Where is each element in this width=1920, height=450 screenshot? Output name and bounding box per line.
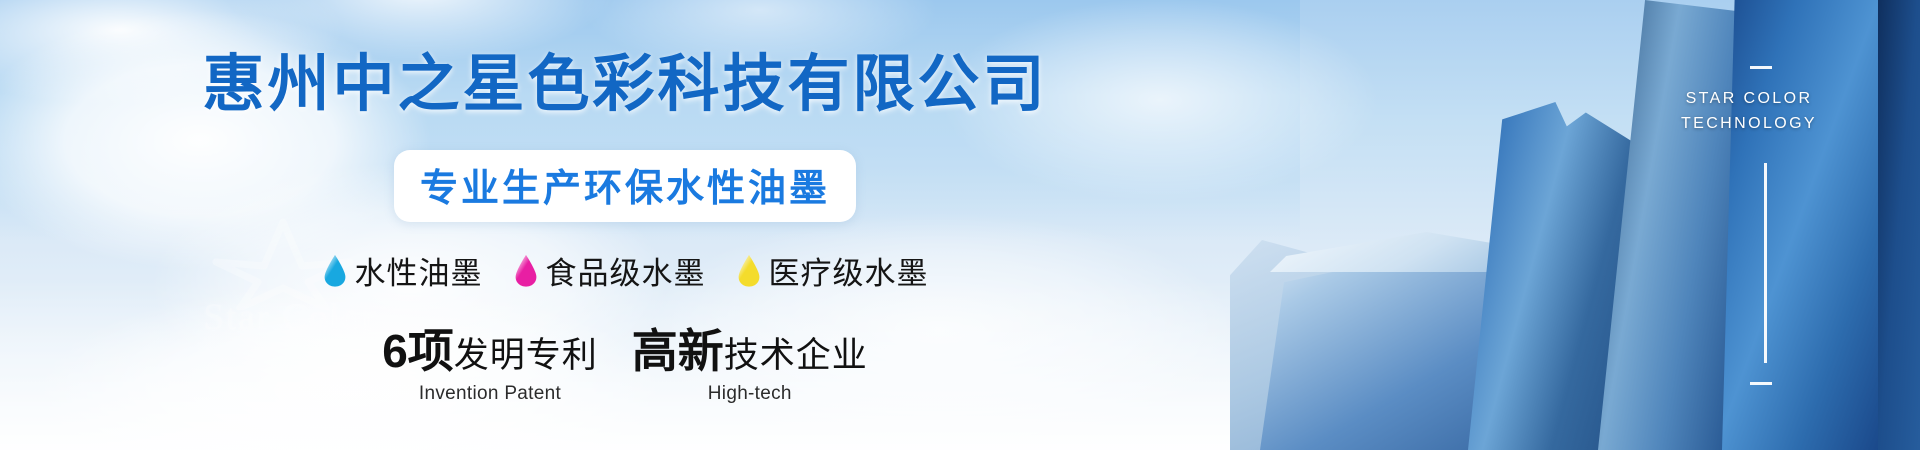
brand-rule-vertical	[1764, 163, 1767, 363]
feature-label: 医疗级水墨	[769, 248, 929, 293]
water-drop-icon	[322, 254, 348, 288]
subtitle-pill-wrap: 专业生产环保水性油墨	[0, 150, 1250, 222]
feature-item: 水性油墨	[322, 248, 483, 293]
credential-text: 发明专利	[454, 338, 598, 373]
credential-english: Invention Patent	[382, 383, 598, 405]
water-drop-icon	[513, 254, 539, 288]
credential-line: 高新技术企业	[632, 328, 868, 374]
water-drop-icon	[736, 254, 762, 288]
credential-highlight: 6项	[382, 328, 454, 374]
subtitle-pill: 专业生产环保水性油墨	[394, 150, 856, 222]
credential-line: 6项发明专利	[382, 328, 598, 374]
brand-rule-top	[1750, 66, 1772, 69]
credential-badge: 高新技术企业High-tech	[632, 328, 868, 405]
feature-item: 医疗级水墨	[736, 248, 929, 293]
feature-label: 水性油墨	[355, 248, 483, 293]
credential-badge: 6项发明专利Invention Patent	[382, 328, 598, 405]
brand-rule-bottom	[1750, 382, 1772, 385]
skyscraper-photo: STAR COLOR TECHNOLOGY	[1230, 0, 1920, 450]
brand-line-2: TECHNOLOGY	[1634, 111, 1864, 136]
credential-list: 6项发明专利Invention Patent高新技术企业High-tech	[0, 328, 1250, 405]
banner-content: 惠州中之星色彩科技有限公司 专业生产环保水性油墨 水性油墨食品级水墨医疗级水墨 …	[0, 0, 1250, 450]
promo-banner: Star Color STAR COLOR TECHNOLOGY 惠州中之星色彩…	[0, 0, 1920, 450]
brand-line-1: STAR COLOR	[1634, 86, 1864, 111]
feature-item: 食品级水墨	[513, 248, 706, 293]
credential-text: 技术企业	[724, 338, 868, 373]
credential-highlight: 高新	[632, 328, 724, 374]
company-title: 惠州中之星色彩科技有限公司	[0, 54, 1250, 116]
feature-list: 水性油墨食品级水墨医疗级水墨	[0, 248, 1250, 293]
building-far-right-sliver	[1878, 0, 1920, 450]
feature-label: 食品级水墨	[546, 248, 706, 293]
credential-english: High-tech	[632, 383, 868, 405]
building-brand-text: STAR COLOR TECHNOLOGY	[1634, 86, 1864, 136]
